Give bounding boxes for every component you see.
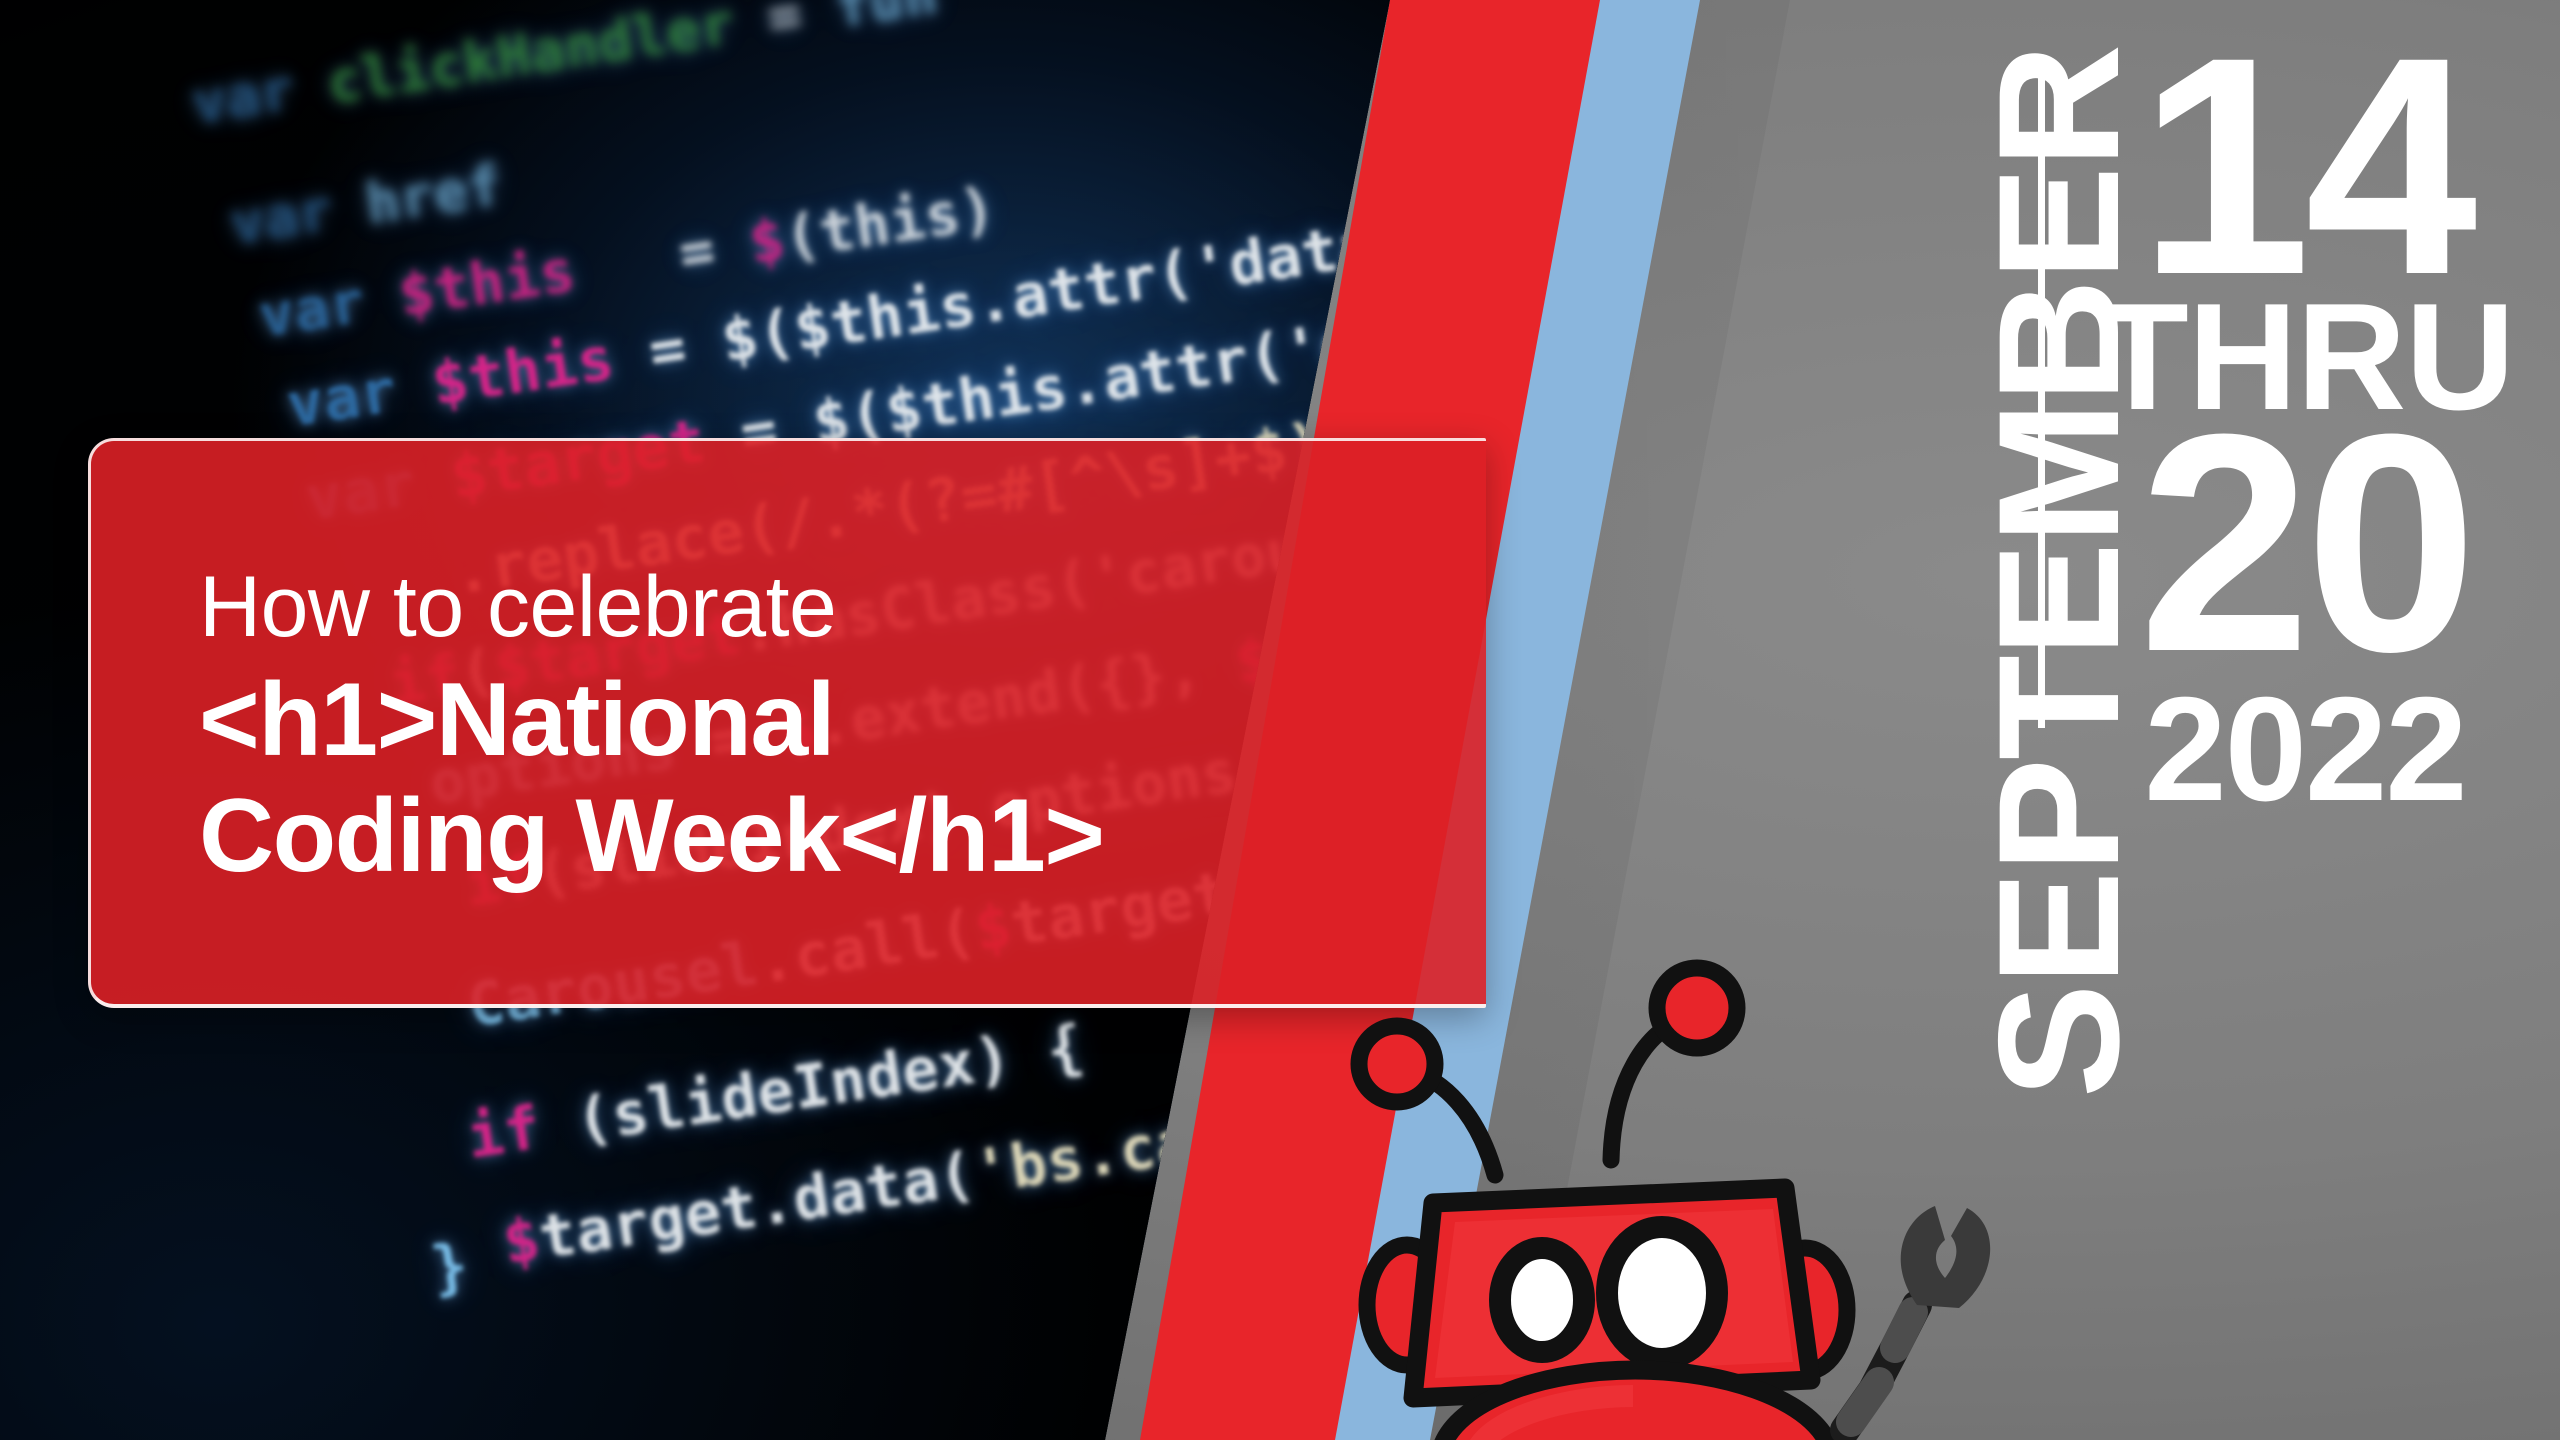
event-day-start: 14 <box>2070 30 2540 303</box>
date-vertical-divider <box>2038 58 2045 728</box>
headline-banner: How to celebrate <h1>National Coding Wee… <box>88 438 1486 1008</box>
event-day-end: 20 <box>2070 407 2540 680</box>
headline-title-line-2: Coding Week</h1> <box>199 778 1446 894</box>
poster-canvas: var clickHandler = fun var href var $thi… <box>0 0 2560 1440</box>
robot-mascot-icon <box>1245 960 2005 1440</box>
event-day-range: 14 THRU 20 2022 <box>2070 30 2540 816</box>
headline-title-line-1: <h1>National <box>199 662 1446 778</box>
headline-subtitle: How to celebrate <box>199 564 1446 652</box>
